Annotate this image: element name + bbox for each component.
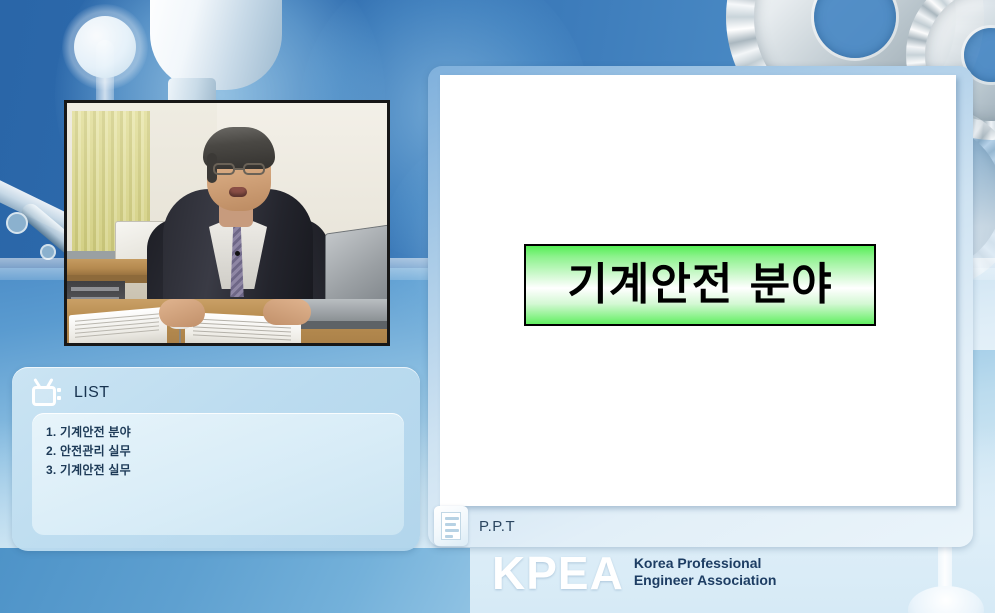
ppt-footer[interactable]: P.P.T <box>434 506 515 546</box>
sphere-halo-graphic <box>62 4 148 90</box>
kpea-logo: KPEA Korea Professional Engineer Associa… <box>492 550 776 596</box>
kpea-subtitle-line2: Engineer Association <box>634 572 777 588</box>
robot-head-graphic <box>150 0 282 90</box>
lecturer-hair <box>203 127 275 169</box>
sphere-graphic <box>74 16 136 78</box>
list-panel-header: LIST <box>32 377 109 409</box>
slide-title-box: 기계안전 분야 <box>524 244 876 326</box>
video-mouse-cord <box>179 327 181 346</box>
document-icon-line <box>445 529 459 532</box>
lecture-video-player[interactable] <box>64 100 390 346</box>
list-panel: LIST 1. 기계안전 분야 2. 안전관리 실무 3. 기계안전 실무 <box>12 367 420 551</box>
lecturer-glasses-bridge <box>235 168 243 170</box>
kpea-wordmark: KPEA <box>492 550 624 596</box>
list-panel-title: LIST <box>74 384 109 402</box>
lecturer-glasses-left <box>213 163 235 175</box>
stand-stem-graphic <box>938 545 952 593</box>
document-icon-line <box>445 523 456 526</box>
stand-base-graphic <box>908 586 984 613</box>
lecturer-left-hand <box>159 299 205 327</box>
tv-knob-upper <box>57 388 61 392</box>
lecturer-right-hand <box>263 299 311 325</box>
lecturer-mouth <box>229 187 247 197</box>
lecturer-lapel-mic <box>235 251 240 256</box>
document-icon-page <box>441 512 461 540</box>
ppt-label: P.P.T <box>479 518 515 535</box>
document-icon-line <box>445 517 459 520</box>
kpea-subtitle: Korea Professional Engineer Association <box>634 555 777 591</box>
document-icon <box>434 506 468 546</box>
document-icon-line <box>445 535 453 538</box>
list-items-container: 1. 기계안전 분야 2. 안전관리 실무 3. 기계안전 실무 <box>32 413 404 535</box>
lecturer-glasses-right <box>243 163 265 175</box>
list-item[interactable]: 3. 기계안전 실무 <box>46 461 404 480</box>
list-item[interactable]: 2. 안전관리 실무 <box>46 442 404 461</box>
tv-icon <box>32 380 62 406</box>
background-bottom-left-block <box>0 548 470 613</box>
slide-title-text: 기계안전 분야 <box>567 263 832 307</box>
player-stage: LIST 1. 기계안전 분야 2. 안전관리 실무 3. 기계안전 실무 기계… <box>0 0 995 613</box>
tv-screen <box>32 386 56 406</box>
kpea-subtitle-line1: Korea Professional <box>634 555 762 571</box>
list-item[interactable]: 1. 기계안전 분야 <box>46 423 404 442</box>
caliper-hole-lower <box>40 244 56 260</box>
caliper-hole-upper <box>6 212 28 234</box>
tv-knob-lower <box>57 396 61 400</box>
